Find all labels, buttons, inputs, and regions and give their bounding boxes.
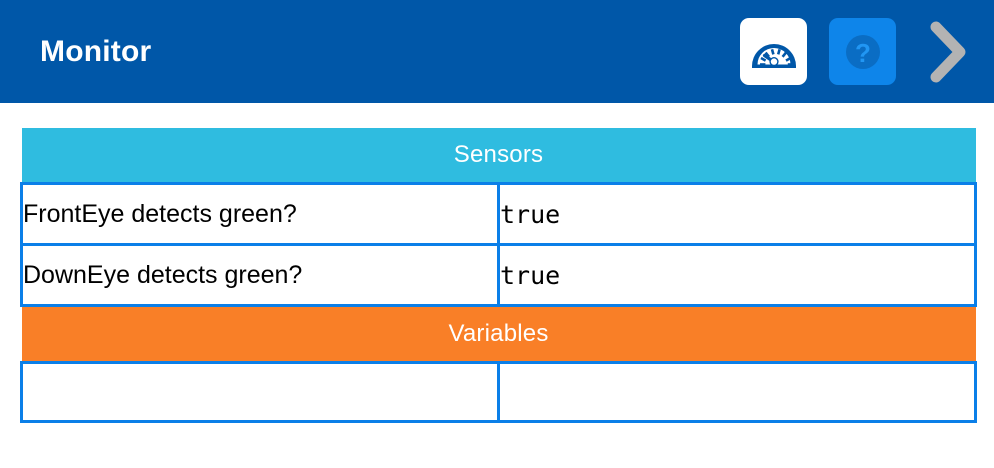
svg-text:?: ? <box>855 38 871 68</box>
section-header-row-sensors: Sensors <box>22 128 976 184</box>
help-button[interactable]: ? <box>829 18 896 85</box>
monitor-app: Monitor <box>0 0 994 468</box>
section-header-row-variables: Variables <box>22 306 976 363</box>
app-header-bar: Monitor <box>0 0 994 103</box>
monitor-gauge-button[interactable] <box>740 18 807 85</box>
variables-section-title: Variables <box>22 306 976 363</box>
variable-name <box>22 363 499 422</box>
next-button[interactable] <box>920 16 976 88</box>
sensor-value: true <box>499 184 976 245</box>
header-actions: ? <box>740 16 976 88</box>
table-row[interactable]: DownEye detects green? true <box>22 245 976 306</box>
monitor-table: Sensors FrontEye detects green? true Dow… <box>20 128 977 423</box>
gauge-icon <box>751 35 797 69</box>
table-row[interactable] <box>22 363 976 422</box>
variable-value <box>499 363 976 422</box>
chevron-right-icon <box>927 19 969 85</box>
page-title: Monitor <box>40 37 151 67</box>
sensors-section-title: Sensors <box>22 128 976 184</box>
help-icon: ? <box>842 31 884 73</box>
sensor-value: true <box>499 245 976 306</box>
table-row[interactable]: FrontEye detects green? true <box>22 184 976 245</box>
sensor-name: FrontEye detects green? <box>22 184 499 245</box>
sensor-name: DownEye detects green? <box>22 245 499 306</box>
